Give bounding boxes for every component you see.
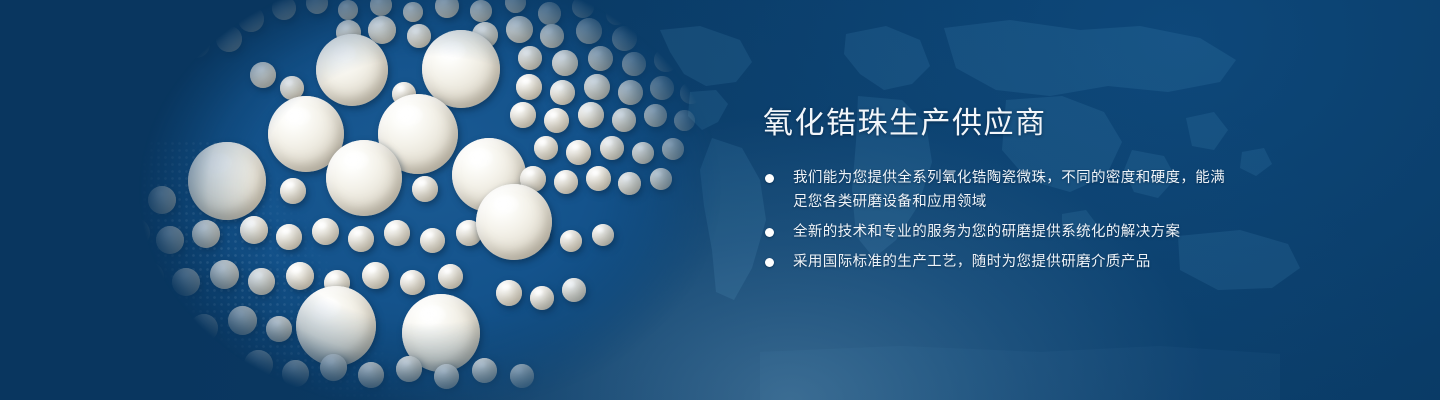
zirconia-bead [672, 30, 694, 52]
zirconia-bead [622, 52, 646, 76]
feature-bullet-list: 我们能为您提供全系列氧化锆陶瓷微珠，不同的密度和硬度，能满足您各类研磨设备和应用… [763, 166, 1233, 274]
zirconia-bead [206, 358, 234, 386]
zirconia-bead [266, 316, 292, 342]
zirconia-bead [666, 6, 685, 25]
zirconia-bead [192, 220, 220, 248]
zirconia-bead [412, 176, 438, 202]
zirconia-bead [338, 0, 358, 20]
zirconia-bead [434, 364, 459, 389]
zirconia-bead [552, 50, 578, 76]
zirconia-bead [348, 226, 374, 252]
zirconia-bead [472, 358, 497, 383]
zirconia-bead [362, 262, 389, 289]
zirconia-bead [572, 0, 594, 18]
zirconia-bead [618, 80, 643, 105]
zirconia-bead [316, 34, 388, 106]
zirconia-bead [554, 170, 578, 194]
zirconia-bead [586, 166, 611, 191]
zirconia-bead [358, 362, 384, 388]
zirconia-bead [286, 262, 314, 290]
zirconia-bead [276, 224, 302, 250]
zirconia-bead [156, 226, 184, 254]
zirconia-bead [680, 82, 702, 104]
zirconia-bead [148, 186, 176, 214]
zirconia-bead [612, 26, 637, 51]
zirconia-bead [644, 104, 667, 127]
feature-bullet-item: 我们能为您提供全系列氧化锆陶瓷微珠，不同的密度和硬度，能满足您各类研磨设备和应用… [763, 166, 1233, 214]
zirconia-bead [248, 268, 275, 295]
zirconia-bead [506, 16, 533, 43]
zirconia-bead [584, 74, 610, 100]
zirconia-bead [216, 26, 242, 52]
zirconia-bead [240, 216, 268, 244]
zirconia-bead [326, 140, 402, 216]
zirconia-bead [244, 350, 273, 379]
zirconia-bead [505, 0, 526, 13]
zirconia-bead [644, 20, 668, 44]
zirconia-bead [576, 18, 602, 44]
zirconia-bead [538, 2, 561, 25]
bullet-dot-icon [765, 174, 774, 183]
zirconia-bead [606, 4, 627, 25]
zirconia-bead [650, 76, 674, 100]
zirconia-bead [210, 260, 239, 289]
zirconia-bead [228, 306, 257, 335]
zirconia-bead [312, 218, 339, 245]
zirconia-bead [182, 30, 210, 58]
feature-bullet-text: 采用国际标准的生产工艺，随时为您提供研磨介质产品 [793, 250, 1233, 274]
zirconia-bead [320, 354, 347, 381]
zirconia-bead [438, 264, 463, 289]
banner-text-block: 氧化锆珠生产供应商 我们能为您提供全系列氧化锆陶瓷微珠，不同的密度和硬度，能满足… [763, 104, 1233, 280]
zirconia-bead [272, 0, 296, 20]
zirconia-bead [592, 224, 614, 246]
zirconia-bead [612, 108, 636, 132]
zirconia-bead [407, 24, 431, 48]
bullet-dot-icon [765, 258, 774, 267]
zirconia-bead [496, 280, 522, 306]
zirconia-bead [188, 142, 266, 220]
zirconia-bead [238, 6, 264, 32]
bullet-dot-icon [765, 228, 774, 237]
zirconia-bead [540, 24, 564, 48]
zirconia-bead [400, 270, 425, 295]
zirconia-bead [166, 352, 196, 382]
zirconia-bead [403, 2, 423, 22]
zirconia-bead [384, 220, 410, 246]
zirconia-bead [282, 360, 309, 387]
feature-bullet-text: 我们能为您提供全系列氧化锆陶瓷微珠，不同的密度和硬度，能满足您各类研磨设备和应用… [793, 166, 1233, 214]
zirconia-bead [562, 278, 586, 302]
zirconia-bead [588, 46, 613, 71]
zirconia-bead [636, 0, 656, 16]
zirconia-bead [560, 230, 582, 252]
zirconia-bead [550, 80, 575, 105]
zirconia-bead [662, 138, 684, 160]
zirconia-bead [566, 140, 591, 165]
zirconia-beads-photo [120, 0, 740, 400]
zirconia-bead [470, 0, 492, 22]
zirconia-bead [370, 0, 392, 16]
feature-bullet-text: 全新的技术和专业的服务为您的研磨提供系统化的解决方案 [793, 220, 1233, 244]
zirconia-bead [686, 54, 708, 76]
zirconia-bead [632, 142, 654, 164]
zirconia-bead [476, 184, 552, 260]
zirconia-bead [510, 364, 534, 388]
zirconia-bead [280, 178, 306, 204]
feature-bullet-item: 采用国际标准的生产工艺，随时为您提供研磨介质产品 [763, 250, 1233, 274]
zirconia-bead [150, 308, 180, 338]
zirconia-bead [250, 62, 276, 88]
zirconia-bead [654, 48, 678, 72]
zirconia-bead [306, 0, 328, 14]
zirconia-bead [435, 0, 459, 18]
zirconia-bead [134, 262, 164, 292]
bead-cluster [120, 0, 740, 400]
zirconia-bead [578, 102, 604, 128]
zirconia-bead [600, 136, 624, 160]
zirconia-bead [534, 136, 558, 160]
feature-bullet-item: 全新的技术和专业的服务为您的研磨提供系统化的解决方案 [763, 220, 1233, 244]
zirconia-bead [518, 46, 542, 70]
zirconia-bead [510, 102, 536, 128]
zirconia-bead [618, 172, 641, 195]
zirconia-bead [172, 268, 200, 296]
zirconia-bead [420, 228, 445, 253]
zirconia-bead [530, 286, 554, 310]
zirconia-bead [120, 218, 150, 248]
page-title: 氧化锆珠生产供应商 [763, 104, 1233, 144]
zirconia-bead [516, 74, 542, 100]
zirconia-bead [396, 356, 422, 382]
zirconia-bead [190, 314, 218, 342]
hero-banner: 氧化锆珠生产供应商 我们能为您提供全系列氧化锆陶瓷微珠，不同的密度和硬度，能满足… [0, 0, 1440, 400]
zirconia-bead [674, 110, 695, 131]
zirconia-bead [650, 168, 672, 190]
zirconia-bead [544, 108, 569, 133]
